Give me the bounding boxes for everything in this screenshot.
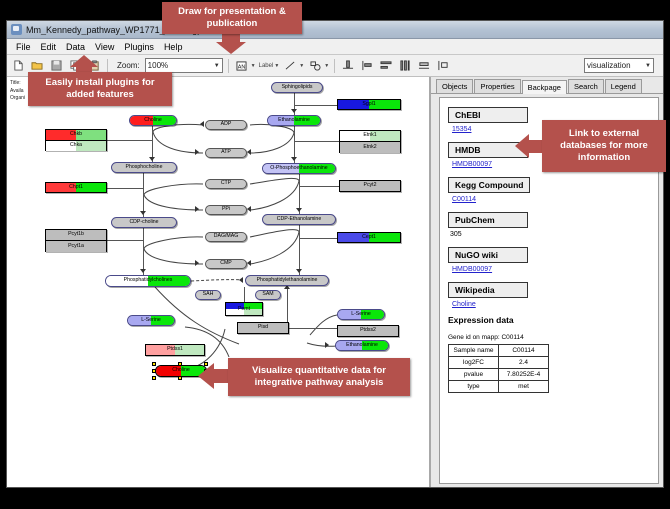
chevron-down-icon: ▼ [299,63,304,69]
node-label: Choline [144,118,162,123]
zoom-value: 100% [148,61,168,70]
gene-pcyt1b[interactable]: Pcyt1b [46,230,106,241]
arrow-down-icon [291,157,297,161]
gene-etnk1[interactable]: Etnk1 [340,131,400,142]
expression-table: Sample name C00114 log2FC 2.4 pvalue 7.8… [448,344,549,393]
gene-etnk2[interactable]: Etnk2 [340,142,400,153]
callout-plugins: Easily install plugins for added feature… [28,72,172,106]
node-adp[interactable]: ADP [205,120,247,130]
gene-label: Pisd [258,325,268,330]
section-header-nugo: NuGO wiki [448,247,528,263]
node-label: SAM [262,292,273,297]
callout-draw-stem [222,34,240,42]
node-l-serine-left[interactable]: L-Serine [127,315,175,326]
title-bar: Mm_Kennedy_pathway_WP1771_45176.gpml [7,21,663,39]
gene-sgpl1[interactable]: Sgpl1 [337,99,401,110]
toolbar-separator [334,59,335,73]
gene-chka[interactable]: Chka [46,141,106,151]
node-label: Sphingolipids [282,85,313,90]
datanode-tool[interactable]: AN ▼ [234,58,256,74]
chevron-down-icon: ▼ [214,63,220,69]
gene-box-pcyt1[interactable]: Pcyt1b Pcyt1a [45,229,107,252]
arrow-left-icon [247,206,251,212]
menu-item-view[interactable]: View [91,41,118,53]
gene-label: Pcyt1b [68,232,84,237]
node-label: Choline [172,368,190,373]
toolbar-separator [228,59,229,73]
node-phosphocholine[interactable]: Phosphocholine [111,162,177,173]
node-choline[interactable]: Choline [129,115,177,126]
chevron-down-icon: ▼ [251,63,256,69]
arrow-right-icon [325,342,329,348]
meta-organism: Organi [10,95,25,103]
label-button-text: Label [259,63,274,69]
gene-ptdss2[interactable]: Ptdss2 [337,325,399,337]
edge-pcyt2-to-backbone [299,186,339,187]
tab-objects[interactable]: Objects [436,79,473,93]
size-icon[interactable] [435,58,451,74]
node-l-serine-right[interactable]: L-Serine [337,309,385,320]
node-cdp-ethanolamine[interactable]: CDP-Ethanolamine [262,214,336,225]
callout-visualize-text: Visualize quantitative data for integrat… [234,365,404,389]
visualization-combo[interactable]: visualization ▼ [584,58,654,73]
link-nugo[interactable]: HMDB00097 [452,266,650,273]
tab-properties[interactable]: Properties [474,79,520,93]
callout-plugins-arrow [70,55,98,67]
canvas-horizontal-scrollbar[interactable]: ◄ ⋯ ► [7,487,663,488]
edge-chpt1-to-backbone [107,188,143,189]
section-header-kegg: Kegg Compound [448,177,530,193]
gene-label: Chkb [70,132,82,137]
callout-visualize: Visualize quantitative data for integrat… [228,358,410,396]
arrow-down-icon [291,109,297,113]
table-row: log2FC 2.4 [449,357,549,369]
gene-label: Ptdss2 [360,328,376,333]
cell-key: type [449,381,499,393]
gene-box-chk[interactable]: Chkb Chka [45,129,107,151]
gene-label: Pcyt1a [68,244,84,249]
shape-icon [307,58,323,74]
arrow-left-icon [247,260,251,266]
gene-label: Pemt [226,303,262,315]
node-label: SAH [203,292,214,297]
arrow-right-icon [195,206,199,212]
screenshot-root: Mm_Kennedy_pathway_WP1771_45176.gpml Fil… [0,0,670,509]
zoom-label: Zoom: [117,61,140,70]
section-header-pubchem: PubChem [448,212,528,228]
node-phosphatidylcholines[interactable]: Phosphatidylcholines [105,275,191,287]
gene-label: Pcyt2 [364,183,377,188]
table-row: Sample name C00114 [449,345,549,357]
visualization-value: visualization [587,61,631,70]
gene-pemt[interactable]: Pemt [225,302,263,316]
node-label: CDP-choline [129,220,158,225]
tab-search[interactable]: Search [568,79,604,93]
arrow-down-icon [296,269,302,273]
callout-draw-arrow [216,42,246,54]
node-o-phosphoethanolamine[interactable]: O-Phosphoethanolamine [262,163,336,174]
node-dag-mag[interactable]: DAG/MAG [205,232,247,242]
chevron-down-icon: ▼ [645,63,651,69]
arrow-right-icon [195,149,199,155]
edge-cept1-to-backbone [299,238,337,239]
menu-item-data[interactable]: Data [62,41,89,53]
edge-pisd-right [289,328,337,329]
datanode-icon: AN [234,58,250,74]
table-row: pvalue 7.80252E-4 [449,369,549,381]
cell-key: Sample name [449,345,499,357]
cell-key: log2FC [449,357,499,369]
table-row: type met [449,381,549,393]
callout-draw-text: Draw for presentation & publication [168,6,296,30]
node-ctp[interactable]: CTP [205,179,247,189]
node-phosphatidylethanolamine[interactable]: Phosphatidylethanolamine [245,275,329,286]
node-cdp-choline[interactable]: CDP-choline [111,217,177,228]
callout-draw: Draw for presentation & publication [162,2,302,34]
node-label: ADP [221,122,232,127]
menu-item-file[interactable]: File [12,41,35,53]
gene-pcyt2[interactable]: Pcyt2 [339,180,401,192]
edge-pcyt1-to-backbone [107,240,143,241]
value-pubchem: 305 [450,231,650,238]
node-label: CTP [221,181,231,186]
gene-ptdss1[interactable]: Ptdss1 [145,344,205,356]
callout-visualize-arrow [198,363,214,389]
cell-value: met [499,381,549,393]
selection-handle[interactable] [152,362,156,366]
menu-item-plugins[interactable]: Plugins [120,41,158,53]
node-label: Phosphocholine [126,165,163,170]
section-header-chebi: ChEBI [448,107,528,123]
gene-cept1[interactable]: Cept1 [337,232,401,243]
stack-icon[interactable] [416,58,432,74]
arrow-down-icon [149,157,155,161]
expression-data-title: Expression data [448,315,650,325]
edge-chk-to-backbone [107,140,153,141]
gene-id-line: Gene id on mapp: C00114 [448,334,650,341]
line-icon [282,58,298,74]
menu-bar: File Edit Data View Plugins Help [7,39,663,55]
new-file-icon[interactable] [10,58,26,74]
menu-item-edit[interactable]: Edit [37,41,61,53]
shape-tool[interactable]: ▼ [307,58,329,74]
toolbar-separator [107,59,108,73]
callout-links-arrow [515,134,529,158]
side-panel-tabs: Objects Properties Backpage Search Legen… [431,77,663,94]
cell-key: pvalue [449,369,499,381]
selection-handle[interactable] [178,362,182,366]
gene-pcyt1a[interactable]: Pcyt1a [46,241,106,252]
gene-label: Chpt1 [69,185,83,190]
arrow-down-icon [296,208,302,212]
cell-value: C00114 [499,345,549,357]
tab-legend[interactable]: Legend [605,79,642,93]
node-label: L-Serine [351,312,371,317]
node-label: PPi [222,207,230,212]
gene-chpt1[interactable]: Chpt1 [45,182,107,193]
edge-etnk-to-backbone [294,141,340,142]
node-ethanolamine-top[interactable]: Ethanolamine [267,115,321,126]
node-ppi[interactable]: PPi [205,205,247,215]
edge-cdpcholine-pc [143,228,144,275]
gene-label: Sgpl1 [362,102,375,107]
menu-item-help[interactable]: Help [160,41,187,53]
zoom-combo[interactable]: 100% ▼ [145,58,223,73]
node-label: Phosphatidylethanolamine [257,278,318,283]
gene-chkb[interactable]: Chkb [46,130,106,141]
node-label: CMP [220,261,232,266]
distribute-vertical-icon[interactable] [378,58,394,74]
label-tool[interactable]: Label ▼ [259,63,280,69]
link-kegg[interactable]: C00114 [452,196,650,203]
section-header-wikipedia: Wikipedia [448,282,528,298]
node-label: Phosphatidylcholines [124,278,173,283]
arrow-down-icon [140,269,146,273]
selection-handle[interactable] [178,376,182,380]
node-cmp[interactable]: CMP [205,259,247,269]
node-atp[interactable]: ATP [205,148,247,158]
gene-label: Ptdss1 [167,347,183,352]
gene-label: Etnk2 [363,145,376,150]
node-label: O-Phosphoethanolamine [270,166,327,171]
gene-pisd[interactable]: Pisd [237,322,289,334]
node-label: ATP [221,150,231,155]
canvas-surface[interactable]: Title: Availa Organi [7,77,429,487]
node-label: Ethanolamine [346,343,378,348]
edge-pisd-to-pe [287,287,288,327]
node-sah[interactable]: SAH [195,290,221,300]
gene-label: Cept1 [362,235,376,240]
svg-text:AN: AN [238,64,246,70]
node-sam[interactable]: SAM [255,290,281,300]
chevron-down-icon: ▼ [324,63,329,69]
pathway-canvas[interactable]: Title: Availa Organi [7,77,431,487]
distribute-horizontal-icon[interactable] [397,58,413,74]
callout-links-text: Link to external databases for more info… [548,128,660,164]
chevron-down-icon: ▼ [274,63,279,69]
node-label: CDP-Ethanolamine [277,217,321,222]
arrow-left-icon [239,277,243,283]
gene-label: Chka [70,143,82,148]
node-label: Ethanolamine [278,118,310,123]
node-label: DAG/MAG [214,234,239,239]
gene-box-etnk[interactable]: Etnk1 Etnk2 [339,130,401,153]
node-label: L-Serine [141,318,161,323]
link-wikipedia[interactable]: Choline [452,301,650,308]
arrow-down-icon [140,211,146,215]
align-top-icon[interactable] [340,58,356,74]
callout-links: Link to external databases for more info… [542,120,666,172]
arrow-left-icon [247,149,251,155]
meta-title: Title: [10,80,25,88]
cell-value: 2.4 [499,357,549,369]
line-tool[interactable]: ▼ [282,58,304,74]
cell-value: 7.80252E-4 [499,369,549,381]
node-ethanolamine-right[interactable]: Ethanolamine [335,340,389,351]
callout-plugins-text: Easily install plugins for added feature… [34,77,166,101]
tab-backpage[interactable]: Backpage [522,80,567,94]
pathway-metadata: Title: Availa Organi [10,80,25,103]
selection-handle[interactable] [152,376,156,380]
selection-handle[interactable] [152,369,156,373]
arrow-left-icon [200,121,204,127]
gene-label: Etnk1 [363,133,376,138]
edge-sgpl1-to-backbone [294,105,338,106]
node-sphingolipids[interactable]: Sphingolipids [271,82,323,93]
align-left-icon[interactable] [359,58,375,74]
meta-available: Availa [10,88,25,96]
arrow-right-icon [195,260,199,266]
app-icon [11,24,22,35]
edge-cdpetn-pe [299,225,300,275]
